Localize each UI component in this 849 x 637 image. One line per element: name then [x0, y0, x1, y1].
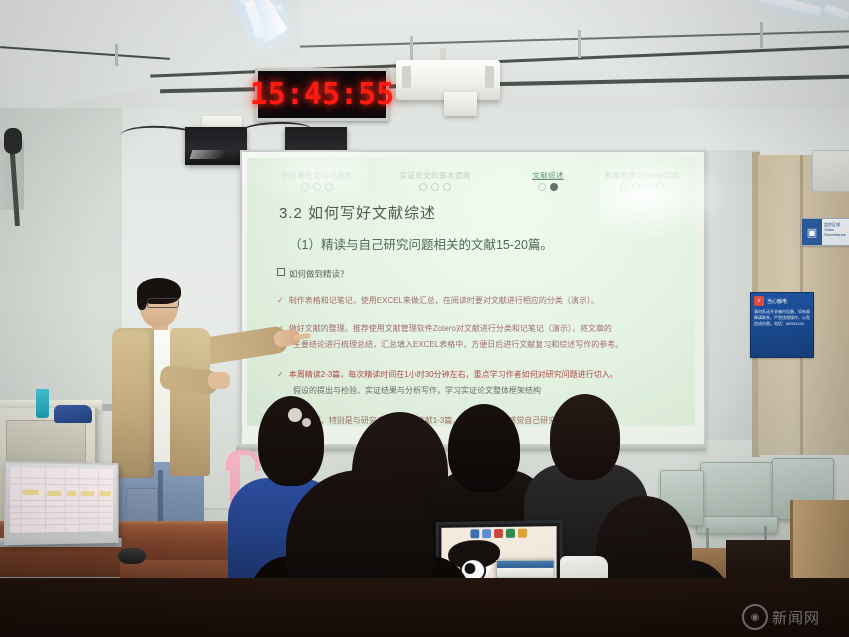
hair-clip-icon: [302, 418, 311, 427]
projector-vent: [485, 66, 494, 88]
electrical-warning-sign: ⚡ 当心触电 请勿乱动开关箱内设备，如有故障请联系，严禁违规操作，以免造成伤害。…: [750, 292, 814, 358]
video-surveillance-sign: ▣ 监控区域 Video Surveillance: [801, 218, 849, 246]
conduit-hanger: [115, 44, 118, 66]
bullet-line: 本周精读2-3篇，每次精读时间在1小时30分钟左右，重点学习作者如何对研究问题进…: [289, 370, 618, 379]
lightning-bolt-icon: ⚡: [754, 296, 764, 306]
taskbar-icon[interactable]: [505, 529, 514, 538]
nav-dot: [301, 183, 309, 191]
taskbar-icon[interactable]: [482, 529, 491, 538]
nav-label: 数据处理与Stata实现: [587, 170, 695, 181]
circular-logo-icon: ◉: [742, 604, 768, 630]
nav-dot: [538, 183, 546, 191]
nav-dot: [443, 183, 451, 191]
conduit-hanger: [578, 30, 581, 58]
warning-title: 当心触电: [767, 298, 787, 305]
foreground-desk: [0, 578, 849, 637]
projector-lens: [444, 92, 477, 116]
nav-dot: [419, 183, 427, 191]
wall-control-box[interactable]: [812, 150, 849, 192]
checkbox-icon: [277, 268, 285, 276]
slide-subtitle: （1）精读与自己研究问题相关的文献15-20篇。: [289, 234, 553, 253]
nav-dot: [644, 183, 652, 191]
classroom-photo: 15:45:55 ▣ 监控区域 Video Surveillance ⚡ 当心触…: [0, 0, 849, 637]
wall-microphone: [4, 128, 22, 154]
instructor-sideburn: [137, 288, 147, 310]
nav-dot: [431, 183, 439, 191]
nav-dots: [375, 183, 495, 191]
bullet-line: 制作表格和记笔记，使用EXCEL来做汇总，在阅读时要对文献进行相应的分类（演示）…: [289, 296, 599, 305]
nav-dot: [313, 183, 321, 191]
sheet-header-cell: [100, 491, 111, 496]
nav-dot: [656, 183, 664, 191]
blue-cloth: [54, 405, 92, 423]
podium-panel: [6, 420, 86, 466]
student-3-head: [448, 404, 520, 492]
nav-label: 实证论文的基本逻辑: [375, 170, 495, 181]
instructor-shirt-left: [112, 328, 154, 478]
sign-line-2: Video Surveillance: [824, 227, 848, 237]
slide-nav: 创业者的难点与困区 实证论文的基本逻辑 文献综述: [247, 170, 695, 196]
cartoon-pupil: [465, 564, 475, 574]
slide-question: 如何做到精读？: [277, 268, 349, 280]
led-wall-clock: 15:45:55: [255, 68, 389, 121]
question-text: 如何做到精读？: [289, 269, 349, 279]
warning-body: 请勿乱动开关箱内设备，如有故障请联系，严禁违规操作，以免造成伤害。电话：8890…: [754, 309, 810, 326]
sheet-col: [79, 468, 80, 531]
slide-bullet-0: ✓制作表格和记笔记，使用EXCEL来做汇总，在阅读时要对文献进行相应的分类（演示…: [277, 296, 599, 305]
sheet-col: [21, 467, 22, 532]
taskbar-icon[interactable]: [470, 529, 479, 538]
spreadsheet-ribbon[interactable]: [497, 568, 554, 578]
nav-dot-active: [550, 183, 558, 191]
nav-dots: [257, 183, 377, 191]
taskbar-icon[interactable]: [517, 529, 526, 538]
sign-text: 监控区域 Video Surveillance: [822, 219, 849, 245]
sheet-header-cell: [67, 491, 77, 496]
check-icon: ✓: [277, 370, 284, 379]
conduit-hanger: [410, 36, 413, 62]
projected-slide: 创业者的难点与困区 实证论文的基本逻辑 文献综述: [247, 158, 695, 426]
nav-dot: [632, 183, 640, 191]
sheet-col: [45, 468, 46, 533]
sheet-header-cell: [81, 491, 94, 496]
bullet-line: 参考文献，特别是与研究直接相关的文献1-3篇，阅读时，就要感觉自己研究与其研究: [289, 416, 589, 425]
clock-time-display: 15:45:55: [250, 77, 395, 112]
slide-title: 3.2 如何写好文献综述: [279, 202, 436, 223]
sheet-header-cell: [23, 490, 39, 495]
slide-nav-item-3[interactable]: 数据处理与Stata实现: [587, 170, 695, 191]
projector-vent: [402, 66, 411, 88]
bottle-cap: [37, 382, 48, 389]
podium-laptop-screen: [10, 467, 113, 533]
watermark: ◉ 新闻网: [742, 602, 846, 632]
camera-icon: ▣: [802, 219, 822, 245]
hair-clip-icon: [288, 408, 302, 422]
check-icon: ✓: [277, 296, 284, 305]
laptop-taskbar[interactable]: [441, 528, 556, 541]
nav-dot: [325, 183, 333, 191]
watermark-text: 新闻网: [772, 607, 820, 628]
conduit-hanger: [760, 22, 763, 48]
nav-dots: [587, 183, 695, 191]
nav-dot: [620, 183, 628, 191]
bullet-line: 做好文献的整理。推荐使用文献管理软件Zotero对文献进行分类和记笔记（演示），…: [289, 324, 612, 333]
instructor-second-hand: [208, 372, 230, 389]
sheet-col: [98, 469, 99, 532]
podium-laptop[interactable]: [4, 461, 119, 546]
slide-bullet-3: ✓参考文献，特别是与研究直接相关的文献1-3篇，阅读时，就要感觉自己研究与其研究: [277, 416, 588, 425]
bullet-line-cont: 主要结论进行梳理总结，汇总填入EXCEL表格中，方便日后进行文献复习和综述写作的…: [293, 340, 623, 349]
water-bottle: [36, 388, 49, 418]
student-4-head: [550, 394, 620, 480]
slide-nav-item-0[interactable]: 创业者的难点与困区: [257, 170, 377, 191]
slide-bullet-1: ✓做好文献的整理。推荐使用文献管理软件Zotero对文献进行分类和记笔记（演示）…: [277, 324, 623, 349]
taskbar-icon[interactable]: [494, 529, 503, 538]
slide-bullet-2: ✓本周精读2-3篇，每次精读时间在1小时30分钟左右，重点学习作者如何对研究问题…: [277, 370, 618, 395]
sheet-col: [65, 468, 66, 532]
instructor-shirt-right: [170, 328, 210, 476]
slide-nav-item-1[interactable]: 实证论文的基本逻辑: [375, 170, 495, 191]
glasses-icon: [147, 298, 179, 308]
nav-label: 创业者的难点与困区: [257, 170, 377, 181]
warning-header: ⚡ 当心触电: [754, 296, 810, 306]
computer-mouse[interactable]: [118, 548, 146, 564]
sheet-header-cell: [47, 491, 61, 496]
wall-speaker-left: [185, 127, 247, 165]
bullet-line-cont: 假设的提出与检验、实证结果与分析写作，学习实证论文整体框架结构: [293, 386, 618, 395]
